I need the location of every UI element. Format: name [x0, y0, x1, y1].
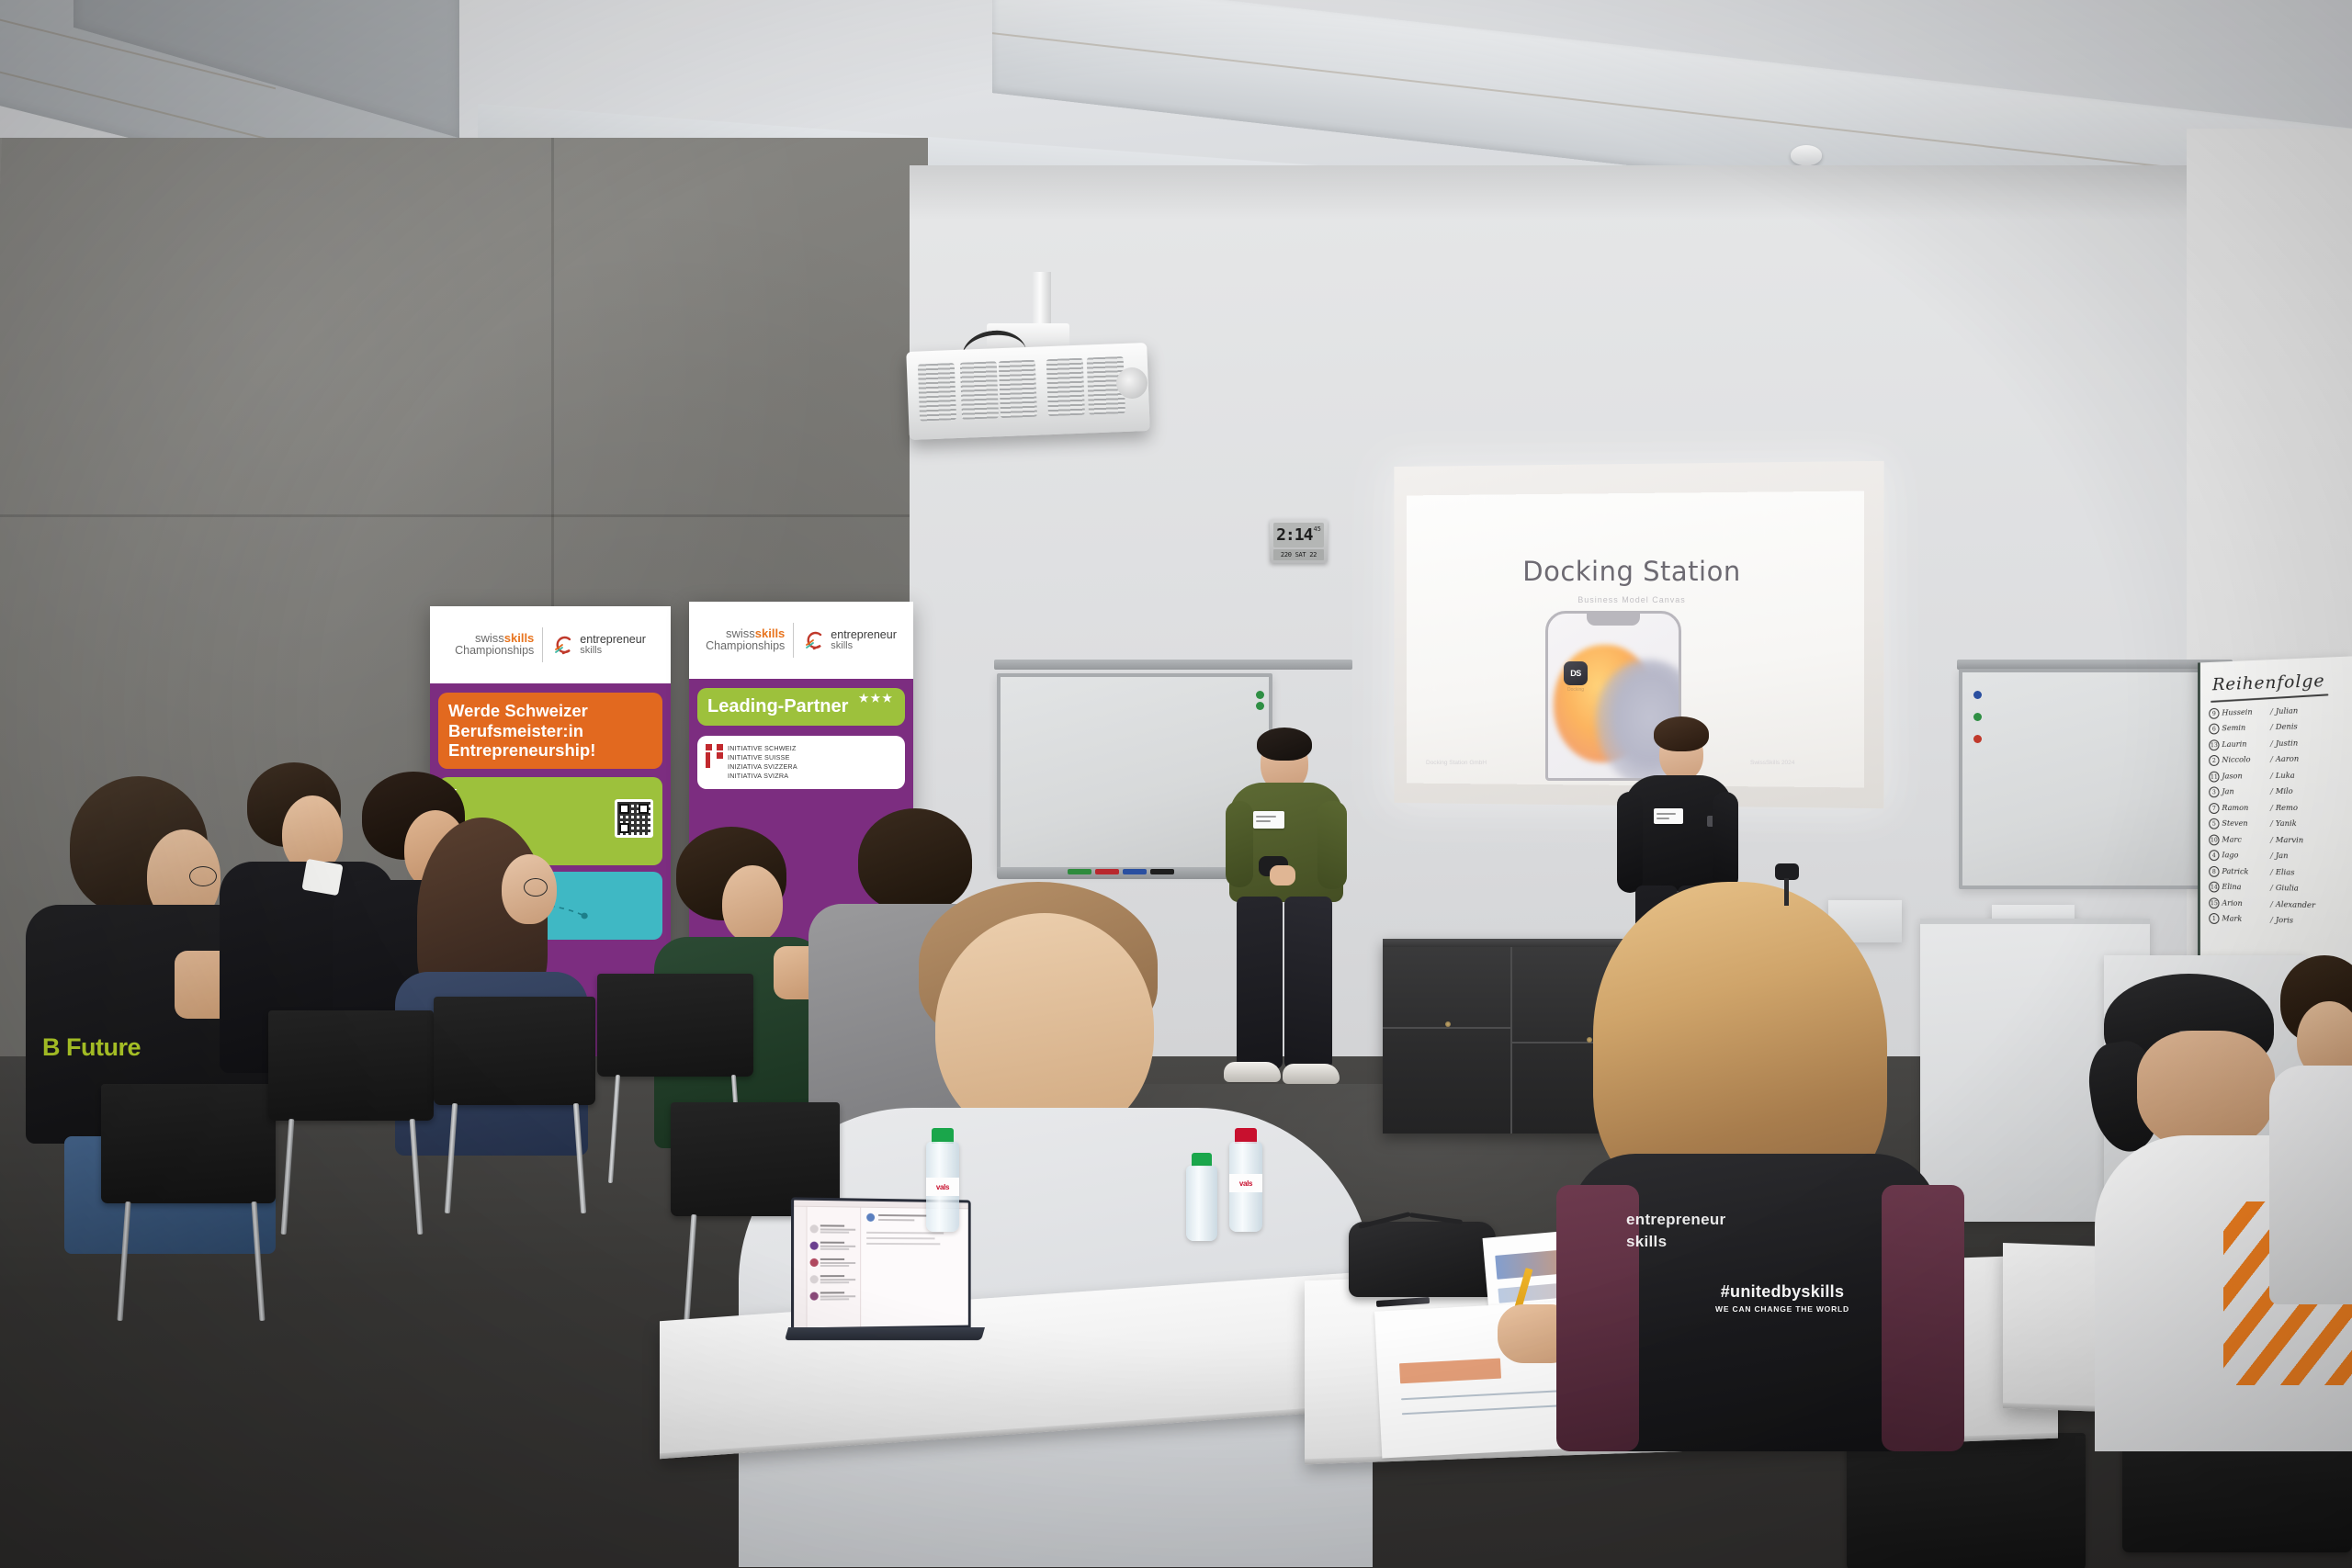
- presenter-name-badge: [1253, 811, 1284, 829]
- flipchart-name-a: Laurin: [2222, 739, 2267, 750]
- whiteboard-magnet[interactable]: [1973, 735, 1982, 743]
- flipchart-row: 10Marc/Marvin: [2209, 832, 2352, 850]
- entrepreneur-logo-mark: [551, 633, 575, 657]
- flipchart-separator: /: [2270, 916, 2273, 925]
- flipchart-separator: /: [2270, 707, 2273, 716]
- flipchart-name-b: Aaron: [2276, 755, 2299, 764]
- flipchart-name-a: Iago: [2222, 852, 2267, 862]
- flipchart: Reihenfolge 9Hussein/Julian6Semin/Denis1…: [2198, 656, 2352, 965]
- banner-logo-header: swissskills Championships entrepreneur s…: [689, 602, 913, 679]
- whiteboard-magnet[interactable]: [1256, 702, 1264, 710]
- flipchart-separator: /: [2270, 755, 2273, 764]
- projector-mount-pole: [1033, 272, 1051, 329]
- flipchart-name-b: Jan: [2276, 852, 2289, 861]
- flipchart-row-number: 2: [2209, 755, 2219, 766]
- swissskills-logo: swissskills Championships: [706, 627, 785, 652]
- flipchart-title: Reihenfolge: [2212, 671, 2325, 694]
- flipchart-row: 1Mark/Joris: [2209, 910, 2352, 931]
- entrepreneur-skills-logo: entrepreneur skills: [802, 628, 897, 652]
- flipchart-row-number: 11: [2209, 771, 2219, 782]
- smoke-detector-icon: [1791, 145, 1822, 165]
- flipchart-name-list: 9Hussein/Julian6Semin/Denis13Laurin/Just…: [2209, 701, 2352, 931]
- flipchart-name-b: Marvin: [2276, 836, 2303, 845]
- presenter-arm: [1617, 792, 1643, 893]
- bottle-label: vals: [926, 1178, 959, 1196]
- flipchart-row: 5Steven/Yanik: [2209, 816, 2352, 832]
- bottle-label: vals: [1229, 1174, 1262, 1192]
- banner-headline: Werde Schweizer Berufsmeister:in Entrepr…: [438, 693, 662, 769]
- vest-brand-line1: entrepreneur: [1626, 1211, 1902, 1229]
- whiteboard-magnet[interactable]: [1973, 691, 1982, 699]
- flipchart-row-number: 14: [2209, 882, 2219, 893]
- app-icon-label: Docking: [1557, 687, 1594, 693]
- marker-green: [1068, 869, 1091, 874]
- cabinet-knob[interactable]: [1445, 1021, 1451, 1027]
- flipchart-separator: /: [2270, 836, 2273, 845]
- audience-head: [2137, 1031, 2275, 1150]
- flipchart-row: 11Jason/Luka: [2209, 767, 2352, 784]
- camera-stand: [1784, 878, 1789, 906]
- flipchart-name-a: Jason: [2222, 772, 2267, 781]
- slide-title: Docking Station: [1402, 556, 1861, 587]
- flipchart-name-a: Arion: [2222, 898, 2267, 908]
- flipchart-row-number: 13: [2209, 739, 2219, 750]
- flipchart-name-a: Jan: [2222, 787, 2267, 796]
- flipchart-row-number: 9: [2209, 708, 2219, 719]
- initiative-schweiz-logo: INITIATIVE SCHWEIZ INITIATIVE SUISSE INI…: [706, 744, 897, 781]
- flipchart-name-a: Niccolo: [2222, 755, 2267, 765]
- slide-footer-left: Docking Station GmbH: [1426, 760, 1487, 766]
- swissskills-logo: swissskills Championships: [455, 632, 534, 657]
- flipchart-name-a: Semin: [2222, 723, 2267, 733]
- flipchart-separator: /: [2270, 739, 2273, 749]
- audience-shirt: [2269, 1066, 2352, 1304]
- presenter-name-badge: [1654, 808, 1683, 824]
- marker-red: [1095, 869, 1119, 874]
- marker-black: [1150, 869, 1174, 874]
- slide-footer-right: SwissSkills 2024: [1750, 760, 1794, 766]
- flipchart-name-b: Joris: [2276, 916, 2293, 926]
- presenter-hair: [1257, 728, 1312, 761]
- entrepreneur-skills-logo: entrepreneur skills: [551, 633, 646, 657]
- flipchart-row-number: 6: [2209, 724, 2219, 735]
- vest-brand-line2: skills: [1626, 1233, 1902, 1251]
- banner-headline: ★★★ Leading-Partner: [697, 688, 905, 726]
- flipchart-row: 3Jan/Milo: [2209, 784, 2352, 800]
- flipchart-name-b: Justin: [2276, 739, 2298, 748]
- flipchart-separator: /: [2270, 804, 2273, 813]
- clock-date: 220 SAT 22: [1273, 549, 1324, 560]
- flipchart-name-b: Yanik: [2276, 819, 2297, 829]
- presenter-arm: [1226, 801, 1253, 887]
- flipchart-separator: /: [2270, 772, 2273, 781]
- flipchart-name-a: Ramon: [2222, 804, 2267, 813]
- flipchart-separator: /: [2270, 723, 2273, 732]
- camera-bag[interactable]: [1349, 1222, 1496, 1297]
- entrepreneur-logo-mark: [802, 628, 826, 652]
- flipchart-name-b: Milo: [2276, 787, 2293, 796]
- app-icon: DS: [1564, 661, 1588, 685]
- whiteboard-magnet[interactable]: [1256, 691, 1264, 699]
- flipchart-name-a: Hussein: [2222, 707, 2267, 717]
- ceiling-projector: [906, 343, 1149, 440]
- clock-time: 2:14: [1276, 525, 1312, 545]
- flipchart-name-b: Remo: [2276, 804, 2298, 813]
- flipchart-name-a: Mark: [2222, 915, 2267, 925]
- audience-member-far-right: [2269, 955, 2352, 1323]
- presenter-arm: [1713, 792, 1738, 891]
- flipchart-name-a: Steven: [2222, 819, 2267, 829]
- eyeglasses-icon: [524, 878, 548, 897]
- clock-seconds: 45: [1313, 525, 1320, 533]
- flipchart-row-number: 1: [2209, 913, 2219, 924]
- staff-member-with-vest: entrepreneur skills #unitedbyskills WE C…: [1562, 882, 1957, 1451]
- presenter-arm: [1317, 801, 1347, 889]
- flipchart-separator: /: [2270, 900, 2273, 909]
- flipchart-separator: /: [2270, 852, 2273, 861]
- flipchart-row-number: 5: [2209, 818, 2219, 829]
- flipchart-row: 7Ramon/Remo: [2209, 800, 2352, 817]
- classroom-presentation-scene: 2:14 45 220 SAT 22 Docking Station Busin…: [0, 0, 2352, 1568]
- flipchart-name-b: Alexander: [2276, 900, 2315, 910]
- flipchart-row: 2Niccolo/Aaron: [2209, 750, 2352, 769]
- partner-stars: ★★★: [859, 692, 894, 705]
- laptop-app-sidebar[interactable]: [794, 1207, 807, 1328]
- whiteboard-rail: [994, 660, 1352, 670]
- flipchart-row-number: 3: [2209, 787, 2219, 798]
- laptop-message-list[interactable]: [807, 1207, 861, 1327]
- flipchart-name-a: Elina: [2222, 883, 2267, 893]
- flipchart-separator: /: [2270, 868, 2273, 877]
- flipchart-row-number: 8: [2209, 866, 2219, 877]
- banner-logo-header: swissskills Championships entrepreneur s…: [430, 606, 671, 683]
- flipchart-separator: /: [2270, 787, 2273, 796]
- phone-notch: [1587, 614, 1640, 626]
- flipchart-separator: /: [2270, 884, 2273, 893]
- bottle-cap: [1192, 1153, 1212, 1167]
- flipchart-name-b: Giulia: [2276, 884, 2299, 894]
- whiteboard: [1959, 669, 2234, 889]
- wall-clock: 2:14 45 220 SAT 22: [1270, 519, 1328, 563]
- flipchart-name-b: Elias: [2276, 868, 2295, 877]
- vest-tagline: WE CAN CHANGE THE WORLD: [1654, 1304, 1911, 1314]
- flipchart-row-number: 15: [2209, 897, 2219, 908]
- flipchart-row-number: 4: [2209, 850, 2219, 861]
- vest-hashtag: #unitedbyskills: [1654, 1282, 1911, 1302]
- flipchart-row-number: 10: [2209, 834, 2219, 845]
- flipchart-name-b: Luka: [2276, 772, 2295, 781]
- slide-subtitle: Business Model Canvas: [1402, 595, 1861, 604]
- flipchart-row-number: 7: [2209, 803, 2219, 814]
- flipchart-name-b: Julian: [2276, 706, 2298, 716]
- partner-logo-box: INITIATIVE SCHWEIZ INITIATIVE SUISSE INI…: [697, 736, 905, 789]
- flipchart-separator: /: [2270, 819, 2273, 829]
- presenter-hair: [1654, 716, 1709, 751]
- marker-blue: [1123, 869, 1147, 874]
- qr-code[interactable]: [615, 799, 653, 838]
- flipchart-name-a: Marc: [2222, 835, 2267, 844]
- laptop-keyboard-base[interactable]: [785, 1327, 985, 1340]
- flipchart-name-b: Denis: [2276, 723, 2298, 733]
- whiteboard-magnet[interactable]: [1973, 713, 1982, 721]
- flipchart-name-a: Patrick: [2222, 867, 2267, 877]
- tshirt-print: B Future: [42, 1033, 141, 1062]
